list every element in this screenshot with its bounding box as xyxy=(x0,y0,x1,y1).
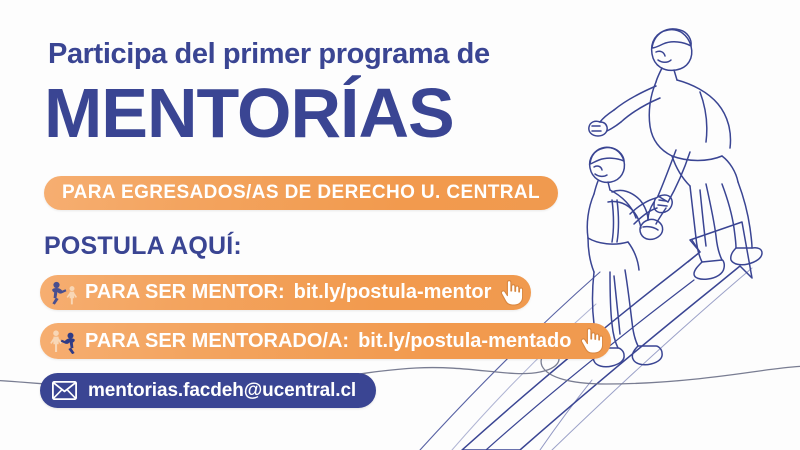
pointing-hand-icon xyxy=(578,328,603,354)
page-title: MENTORÍAS xyxy=(44,78,454,148)
apply-mentee-url[interactable]: bit.ly/postula-mentado xyxy=(358,330,571,353)
subtitle-banner: PARA EGRESADOS/AS DE DERECHO U. CENTRAL xyxy=(44,176,558,210)
poster-canvas: Participa del primer programa de MENTORÍ… xyxy=(0,0,800,450)
headline: Participa del primer programa de xyxy=(48,38,490,71)
pointing-hand-icon xyxy=(498,280,523,306)
envelope-icon xyxy=(52,381,77,400)
apply-mentor-url[interactable]: bit.ly/postula-mentor xyxy=(294,281,492,304)
two-people-icon xyxy=(49,280,79,306)
call-to-action-label: POSTULA AQUÍ: xyxy=(44,232,242,261)
contact-email-pill[interactable]: mentorias.facdeh@ucentral.cl xyxy=(40,373,376,408)
apply-mentee-label: PARA SER MENTORADO/A: xyxy=(85,330,349,353)
apply-mentor-label: PARA SER MENTOR: xyxy=(85,281,285,304)
apply-mentee-link[interactable]: PARA SER MENTORADO/A: bit.ly/postula-men… xyxy=(40,323,611,359)
subtitle-banner-label: PARA EGRESADOS/AS DE DERECHO U. CENTRAL xyxy=(62,182,540,204)
apply-mentor-link[interactable]: PARA SER MENTOR: bit.ly/postula-mentor xyxy=(40,275,531,310)
contact-email-text[interactable]: mentorias.facdeh@ucentral.cl xyxy=(88,380,356,402)
two-people-icon xyxy=(49,328,79,354)
